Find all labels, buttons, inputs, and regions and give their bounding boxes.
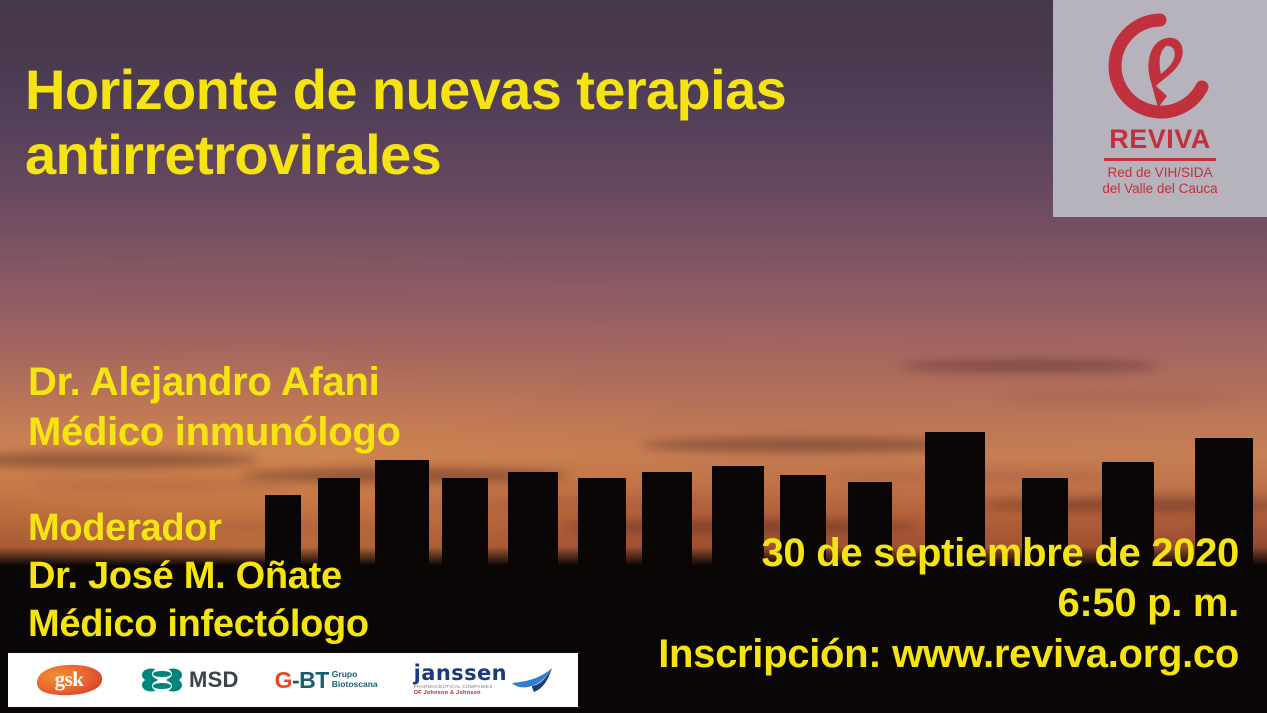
- sponsor-logo-bar: gsk MSD G-BT Grupo: [8, 653, 578, 707]
- reviva-subtitle: Red de VIH/SIDA del Valle del Cauca: [1053, 165, 1267, 198]
- event-poster: Horizonte de nuevas terapias antirretrov…: [0, 0, 1267, 713]
- moderator-role: Médico infectólogo: [28, 601, 369, 649]
- reviva-logo-panel: REVIVA Red de VIH/SIDA del Valle del Cau…: [1053, 0, 1267, 217]
- reviva-ribbon-circle-icon: [1094, 12, 1226, 122]
- sponsor-gsk: gsk: [32, 663, 106, 697]
- sponsor-gbt: G-BT Grupo Biotoscana: [275, 667, 378, 694]
- moderator-label: Moderador: [28, 505, 369, 553]
- msd-wordmark: MSD: [189, 667, 239, 693]
- event-time: 6:50 p. m.: [658, 578, 1239, 628]
- poster-title: Horizonte de nuevas terapias antirretrov…: [25, 58, 895, 188]
- event-registration: Inscripción: www.reviva.org.co: [658, 629, 1239, 679]
- gbt-wordmark: G-BT: [275, 667, 329, 694]
- event-info-block: 30 de septiembre de 2020 6:50 p. m. Insc…: [658, 528, 1239, 679]
- reviva-subtitle-line-1: Red de VIH/SIDA: [1053, 165, 1267, 181]
- cloud-band: [640, 438, 970, 452]
- sponsor-msd: MSD: [142, 666, 239, 694]
- gsk-oval-icon: gsk: [32, 663, 106, 697]
- cloud-band: [1000, 392, 1240, 403]
- event-date: 30 de septiembre de 2020: [658, 528, 1239, 578]
- cloud-band: [900, 360, 1160, 372]
- moderator-block: Moderador Dr. José M. Oñate Médico infec…: [28, 505, 369, 649]
- logo-divider: [1104, 158, 1216, 161]
- reviva-subtitle-line-2: del Valle del Cauca: [1053, 181, 1267, 197]
- title-line-1: Horizonte de nuevas terapias: [25, 58, 895, 123]
- speaker-name: Dr. Alejandro Afani: [28, 358, 401, 408]
- speaker-role: Médico inmunólogo: [28, 408, 401, 458]
- janssen-swoosh-icon: [510, 667, 554, 693]
- gbt-subtitle-line-2: Biotoscana: [332, 680, 378, 690]
- moderator-name: Dr. José M. Oñate: [28, 553, 369, 601]
- moai-statue: [375, 460, 429, 582]
- reviva-wordmark: REVIVA: [1053, 126, 1267, 153]
- speaker-block: Dr. Alejandro Afani Médico inmunólogo: [28, 358, 401, 457]
- janssen-tagline-2: OF Johnson & Johnson: [414, 690, 481, 697]
- moai-statue: [578, 478, 626, 583]
- moai-statue: [508, 472, 558, 583]
- gsk-wordmark: gsk: [32, 663, 106, 697]
- moai-statue: [442, 478, 488, 583]
- msd-diamond-icon: [142, 666, 182, 694]
- sponsor-janssen: janssen PHARMACEUTICAL COMPANIES OF John…: [414, 663, 554, 697]
- janssen-wordmark: janssen: [414, 663, 507, 684]
- cloud-band: [30, 478, 290, 491]
- gbt-subtitle: Grupo Biotoscana: [332, 670, 378, 689]
- title-line-2: antirretrovirales: [25, 123, 895, 188]
